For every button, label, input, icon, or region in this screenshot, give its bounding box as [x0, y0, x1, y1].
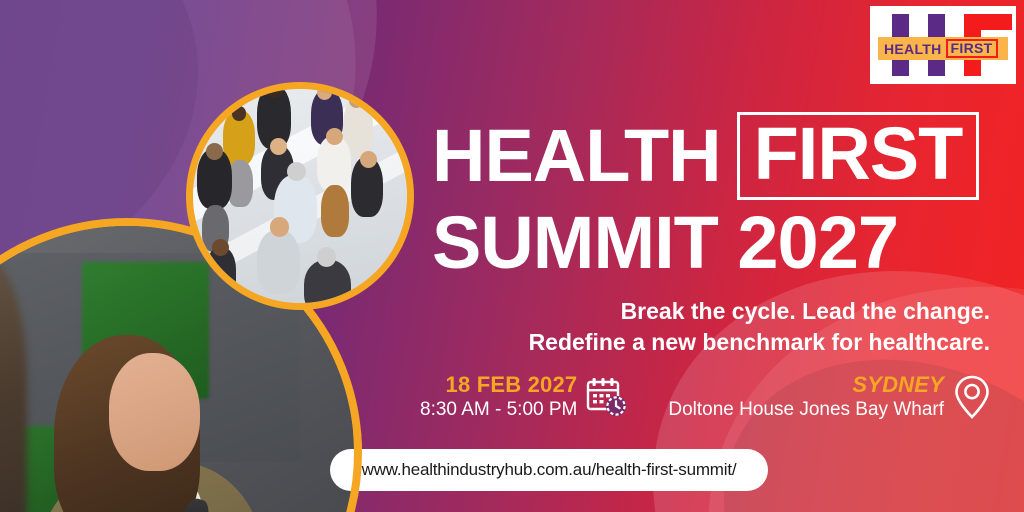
- attendee-head: [266, 82, 283, 98]
- event-details: 18 FEB 2027 8:30 AM - 5:00 PM: [420, 372, 992, 422]
- health-first-logo: HEALTH FIRST: [870, 6, 1016, 84]
- logo-band: HEALTH FIRST: [878, 37, 1008, 60]
- headline-row-2: SUMMIT 2027: [432, 200, 992, 286]
- event-date: 18 FEB 2027: [420, 372, 577, 398]
- logo-letter-f-top-bar: [964, 14, 1012, 30]
- attendee-head: [317, 85, 332, 100]
- website-url-pill[interactable]: www.healthindustryhub.com.au/health-firs…: [330, 449, 768, 491]
- attendee-head: [360, 151, 377, 168]
- location-block: SYDNEY Doltone House Jones Bay Wharf: [668, 372, 992, 422]
- attendee-head: [206, 143, 223, 160]
- calendar-clock-icon: [585, 375, 629, 419]
- tagline: Break the cycle. Lead the change. Redefi…: [430, 296, 990, 358]
- date-time-text: 18 FEB 2027 8:30 AM - 5:00 PM: [420, 372, 577, 422]
- attendee-legs: [321, 185, 349, 236]
- tagline-line-1: Break the cycle. Lead the change.: [430, 296, 990, 327]
- date-time-block: 18 FEB 2027 8:30 AM - 5:00 PM: [420, 372, 629, 422]
- logo-band-health-text: HEALTH: [884, 41, 942, 57]
- headline-word-health: HEALTH: [432, 116, 721, 196]
- event-time: 8:30 AM - 5:00 PM: [420, 398, 577, 422]
- networking-photo-circle: [186, 82, 414, 310]
- attendee-head: [326, 128, 343, 145]
- location-text: SYDNEY Doltone House Jones Bay Wharf: [668, 372, 944, 422]
- event-city: SYDNEY: [668, 372, 944, 398]
- logo-band-first-text: FIRST: [946, 39, 998, 58]
- event-promo-banner: HEALTH FIRST HEALTH FIRST SUMMIT 2027 Br…: [0, 0, 1024, 512]
- headline: HEALTH FIRST SUMMIT 2027: [432, 112, 992, 286]
- map-pin-icon: [952, 373, 992, 421]
- tagline-line-2: Redefine a new benchmark for healthcare.: [430, 327, 990, 358]
- event-venue: Doltone House Jones Bay Wharf: [668, 398, 944, 422]
- attendee: [257, 230, 300, 294]
- attendee-head: [317, 247, 336, 266]
- attendee: [304, 260, 351, 310]
- website-url-text: www.healthindustryhub.com.au/health-firs…: [362, 460, 737, 480]
- headline-word-first-boxed: FIRST: [737, 112, 980, 200]
- networking-crowd-photo: [193, 89, 407, 303]
- attendee-head: [270, 217, 289, 236]
- headline-row-1: HEALTH FIRST: [432, 112, 992, 200]
- speaker-face: [109, 353, 200, 471]
